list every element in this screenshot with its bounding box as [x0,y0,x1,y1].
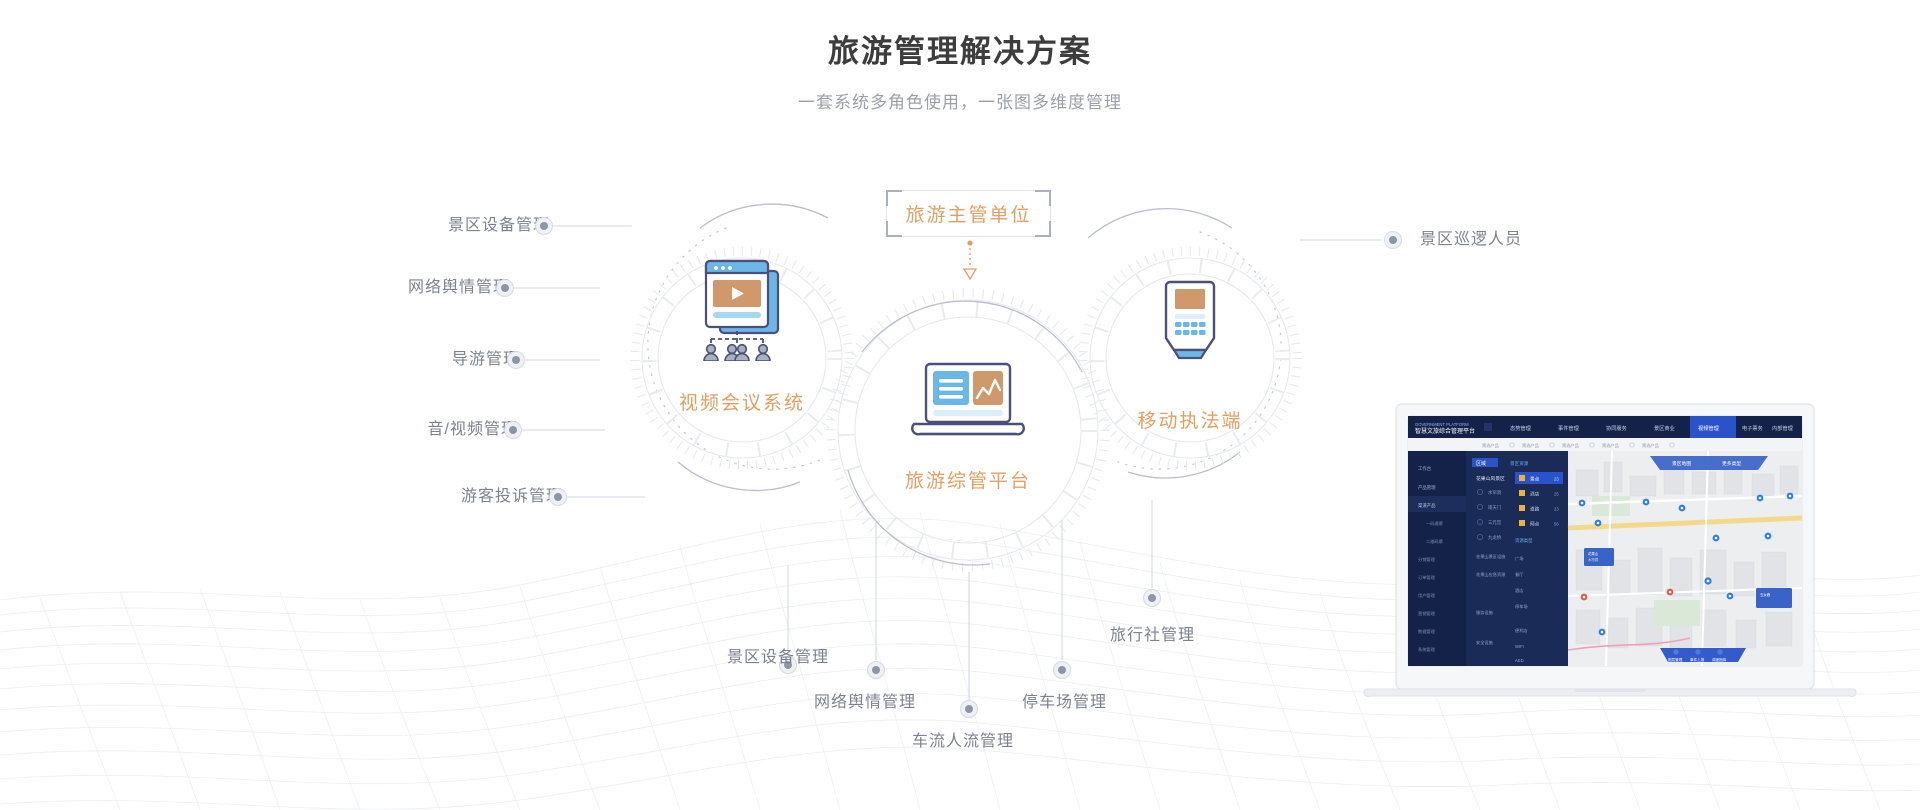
corner-bottom-right [1035,221,1051,237]
cluster-title-video-conference: 视频会议系统 [642,388,842,415]
page-subtitle: 一套系统多角色使用，一张图多维度管理 [0,88,1920,113]
cluster-video-conference[interactable]: 视频会议系统 [642,258,842,458]
cluster-tourism-platform[interactable]: 旅游综管平台 [868,360,1068,560]
node-dot-left-5[interactable] [549,488,567,506]
node-dot-bottom-2[interactable] [867,661,885,679]
edge-bottom [902,236,1035,237]
label-left-tour-guide-management[interactable]: 导游管理 [270,350,520,370]
node-dot-bottom-4[interactable] [1053,661,1071,679]
node-dot-bottom-3[interactable] [960,700,978,718]
corner-bottom-left [886,221,902,237]
node-dot-left-3[interactable] [507,351,525,369]
label-left-audio-video-management[interactable]: 音/视频管理 [268,420,518,440]
cluster-title-mobile-enforcement: 移动执法端 [1090,406,1290,433]
node-dot-right-1[interactable] [1384,231,1402,249]
header: 旅游管理解决方案 一套系统多角色使用，一张图多维度管理 [0,30,1920,113]
label-bottom-traffic-flow-management[interactable]: 车流人流管理 [912,732,1014,752]
label-left-network-opinion-management[interactable]: 网络舆情管理 [260,278,510,298]
handheld-device-icon [1158,278,1222,362]
laptop-dashboard-icon [906,360,1030,444]
corner-top-right [1035,190,1051,206]
label-left-scenic-device-management[interactable]: 景区设备管理 [300,216,550,236]
label-bottom-parking-lot-management[interactable]: 停车场管理 [1022,693,1107,713]
label-bottom-network-opinion-management[interactable]: 网络舆情管理 [814,693,916,713]
label-left-visitor-complaint-management[interactable]: 游客投诉管理 [313,487,563,507]
corner-top-left [886,190,902,206]
edge-top [902,190,1035,191]
dotted-down-arrow-icon [961,240,979,282]
node-dot-bottom-5[interactable] [1143,589,1161,607]
cluster-title-tourism-platform: 旅游综管平台 [868,466,1068,493]
node-dot-left-1[interactable] [535,217,553,235]
diagram-stage: 旅游主管单位 [0,0,1920,810]
edge-left [886,206,887,221]
video-window-icon [694,255,790,361]
label-right-scenic-patrol-staff[interactable]: 景区巡逻人员 [1420,230,1522,250]
cluster-mobile-enforcement[interactable]: 移动执法端 [1090,278,1290,478]
label-bottom-travel-agency-management[interactable]: 旅行社管理 [1110,626,1195,646]
page-title: 旅游管理解决方案 [0,30,1920,74]
governing-unit-box[interactable]: 旅游主管单位 [886,190,1051,237]
node-dot-left-2[interactable] [496,279,514,297]
edge-right [1050,206,1051,221]
node-dot-left-4[interactable] [504,421,522,439]
governing-unit-label: 旅游主管单位 [905,200,1031,227]
label-bottom-scenic-device-management[interactable]: 景区设备管理 [727,648,829,668]
